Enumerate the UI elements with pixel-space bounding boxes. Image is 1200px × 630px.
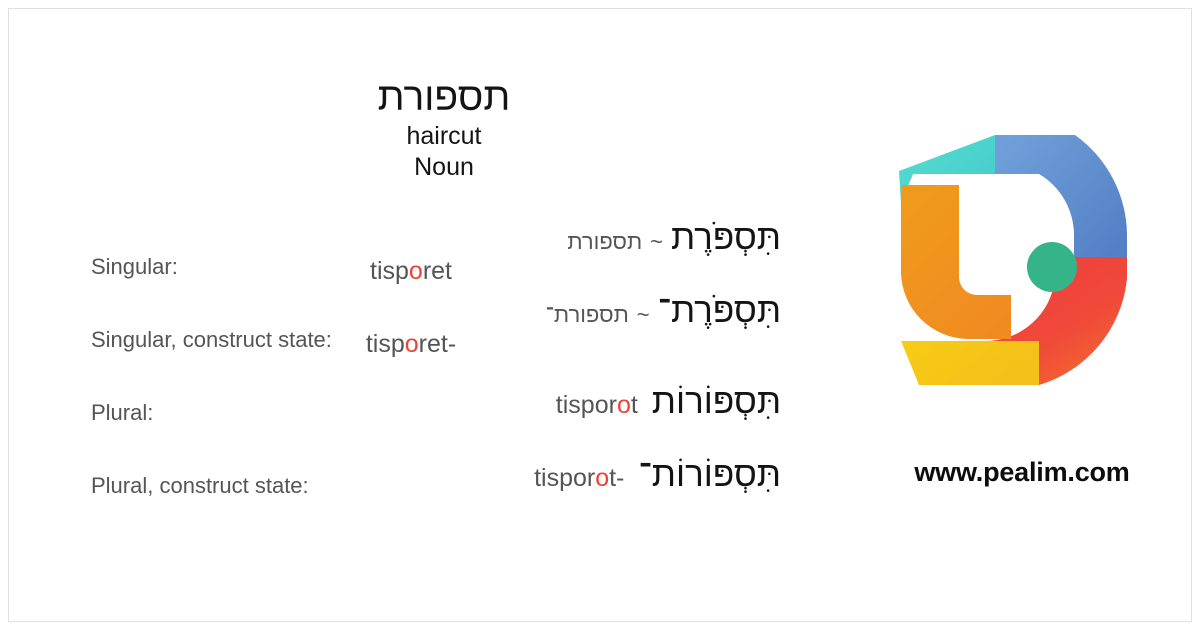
form-ktiv-male: תספורת — [567, 229, 642, 254]
logo-dot-green — [1027, 242, 1077, 292]
transliteration-line: tisporet- — [161, 330, 781, 359]
headword-block: תספורת haircut Noun — [9, 75, 879, 183]
translit-post: ret — [423, 257, 452, 285]
form-menukad: תִּסְפֹּרֶת — [671, 218, 781, 257]
forms-line: תִּסְפּוֹרוֹתtisporot — [556, 382, 781, 422]
translit-stress: o — [405, 330, 419, 358]
translit-stress: o — [595, 464, 609, 492]
table-row: Singular, construct state: תִּסְפֹּרֶת־~… — [9, 287, 879, 360]
headword-hebrew: תספורת — [9, 75, 879, 121]
form-ktiv-male: תספורת־ — [546, 302, 629, 327]
forms-line: תִּסְפֹּרֶת־~תספורת־ — [161, 293, 781, 328]
pealim-logo-icon — [889, 127, 1129, 392]
row-forms-singular-construct: תִּסְפֹּרֶת־~תספורת־ tisporet- — [161, 293, 781, 359]
website-url: www.pealim.com — [877, 457, 1167, 488]
row-forms-singular: תִּסְפֹּרֶת~תספורת tisporet — [161, 220, 781, 286]
form-transliteration: tisporot — [556, 391, 638, 420]
translit-pre: tispor — [556, 391, 617, 419]
forms-line: תִּסְפֹּרֶת~תספורת — [161, 220, 781, 255]
logo-segment-orange — [901, 185, 1011, 339]
form-transliteration: tisporet — [370, 257, 452, 286]
table-row: Singular: תִּסְפֹּרֶת~תספורת tisporet — [9, 214, 879, 287]
logo-segment-yellow — [901, 341, 1039, 385]
table-row: Plural, construct state: תִּסְפּוֹרוֹת־t… — [9, 433, 879, 506]
form-menukad: תִּסְפֹּרֶת־ — [658, 291, 781, 330]
translit-post: ret- — [419, 330, 457, 358]
brand-block: www.pealim.com — [877, 9, 1191, 623]
form-transliteration: tisporet- — [366, 330, 456, 359]
form-menukad: תִּסְפּוֹרוֹת־ — [638, 455, 781, 494]
form-menukad: תִּסְפּוֹרוֹת — [652, 382, 781, 421]
headword-meaning: haircut — [9, 121, 879, 152]
translit-pre: tisp — [370, 257, 409, 285]
translit-post: t — [631, 391, 638, 419]
row-forms-plural: תִּסְפּוֹרוֹתtisporot — [161, 382, 781, 422]
transliteration-line: tisporet — [161, 257, 781, 286]
row-label-plural: Plural: — [91, 400, 153, 426]
inflection-table: Singular: תִּסְפֹּרֶת~תספורת tisporet Si… — [9, 214, 879, 506]
translit-post: t- — [609, 464, 624, 492]
headword-part-of-speech: Noun — [9, 152, 879, 183]
translit-pre: tisp — [366, 330, 405, 358]
table-row: Plural: תִּסְפּוֹרוֹתtisporot — [9, 360, 879, 433]
translit-stress: o — [409, 257, 423, 285]
form-separator: ~ — [629, 302, 658, 327]
row-forms-plural-construct: תִּסְפּוֹרוֹת־tisporot- — [161, 455, 781, 495]
translit-pre: tispor — [534, 464, 595, 492]
forms-line: תִּסְפּוֹרוֹת־tisporot- — [534, 455, 781, 495]
form-transliteration: tisporot- — [534, 464, 624, 493]
translit-stress: o — [617, 391, 631, 419]
form-separator: ~ — [642, 229, 671, 254]
share-card: תספורת haircut Noun Singular: תִּסְפֹּרֶ… — [8, 8, 1192, 622]
